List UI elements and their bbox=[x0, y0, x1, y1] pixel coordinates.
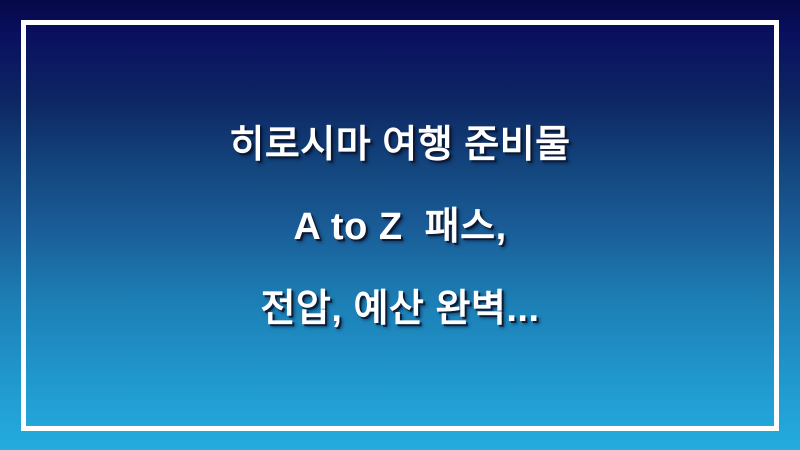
thumbnail-card: 히로시마 여행 준비물 A to Z 패스, 전압, 예산 완벽... bbox=[0, 0, 800, 450]
title-line-1: 히로시마 여행 준비물 bbox=[0, 104, 800, 186]
title-line-3: 전압, 예산 완벽... bbox=[0, 268, 800, 350]
title-line-2: A to Z 패스, bbox=[0, 186, 800, 268]
title-block: 히로시마 여행 준비물 A to Z 패스, 전압, 예산 완벽... bbox=[0, 104, 800, 350]
